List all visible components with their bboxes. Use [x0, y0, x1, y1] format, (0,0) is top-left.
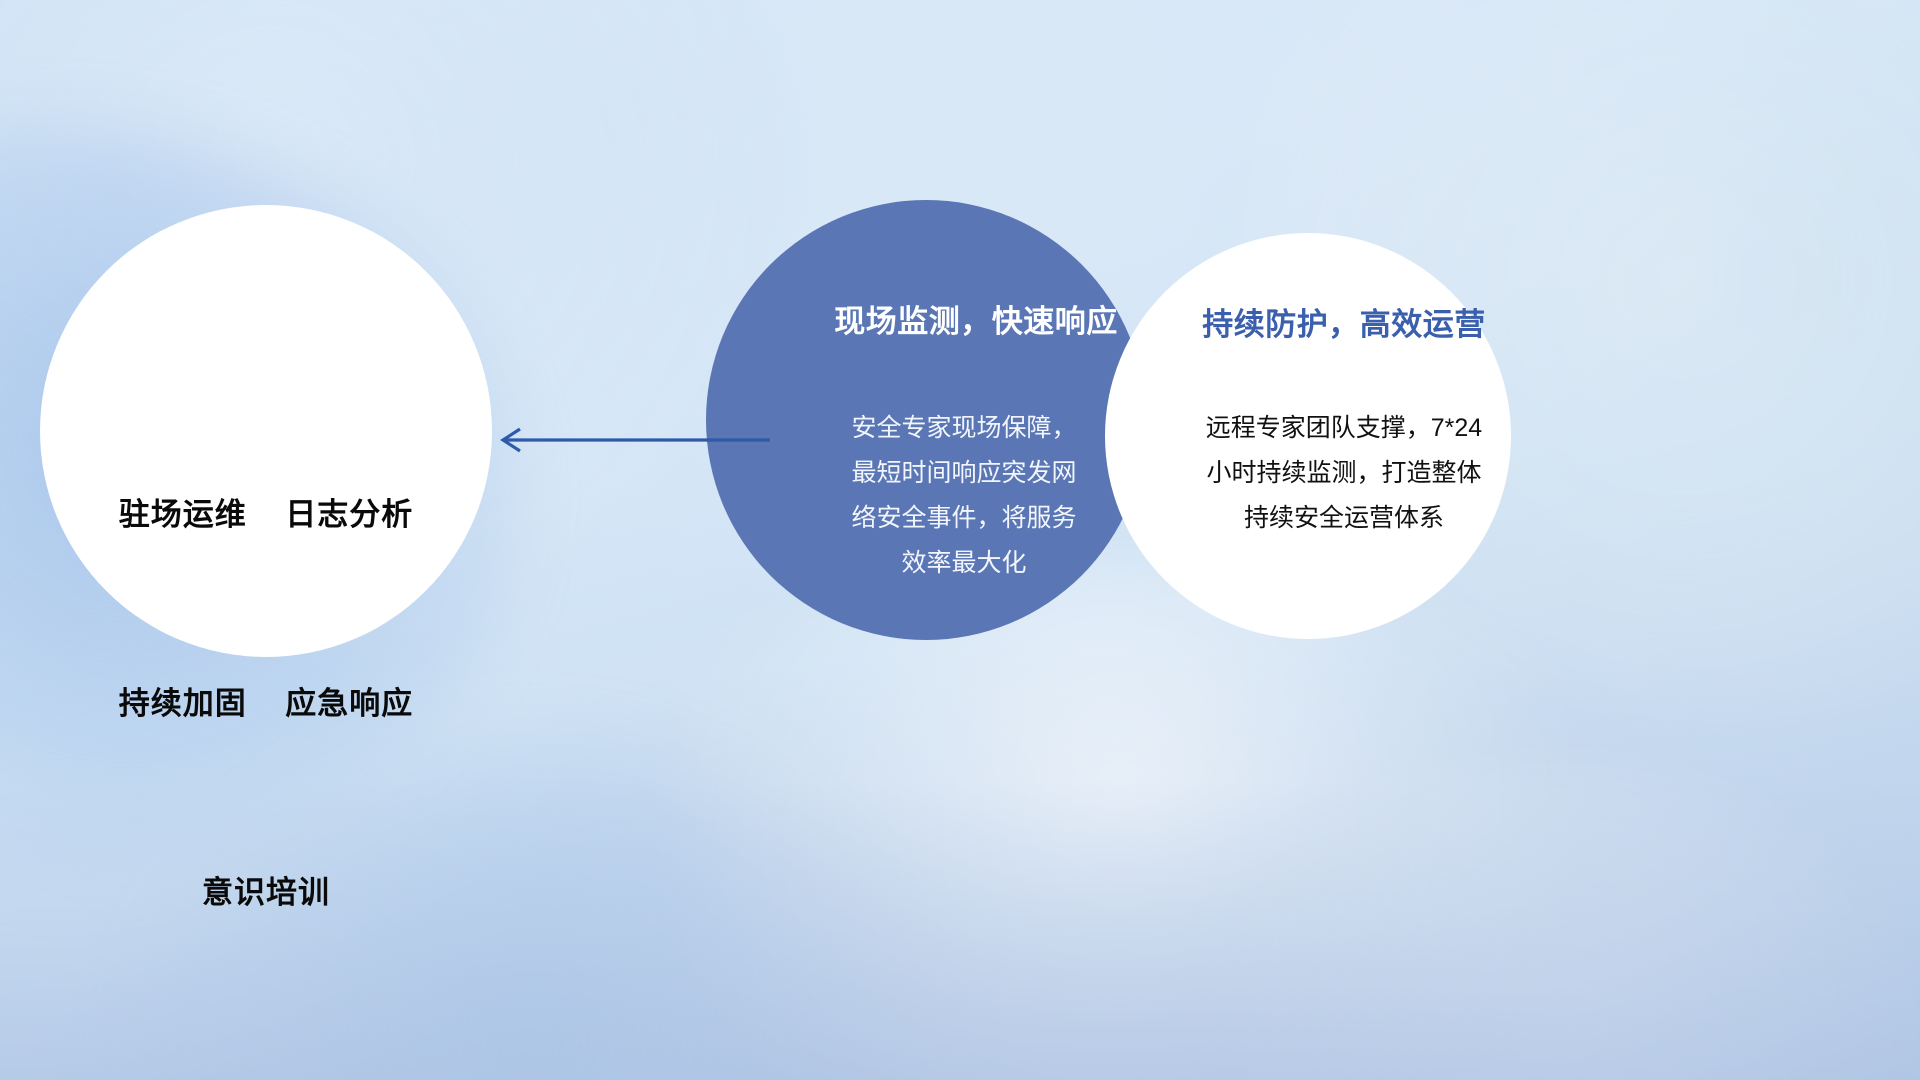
background-bottom-wash	[0, 780, 1920, 1080]
left-circle-shape[interactable]	[40, 205, 492, 657]
flow-arrow	[492, 420, 772, 460]
right-circle-shape[interactable]	[1105, 233, 1511, 639]
middle-circle-shape[interactable]	[706, 200, 1146, 640]
diagram-canvas: 驻场运维 日志分析 持续加固 应急响应 意识培训 现场监测，快速响应 安全专家现…	[0, 0, 1920, 1080]
